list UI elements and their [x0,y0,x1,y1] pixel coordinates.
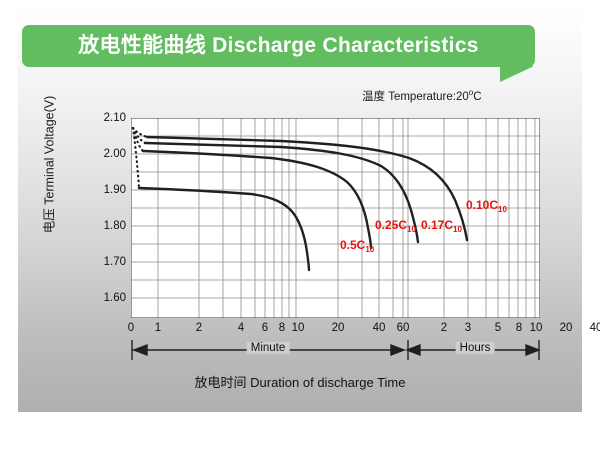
curve-annotation-0-5c-sub: 10 [365,245,374,254]
x-tick-label: 40 [373,322,386,334]
x-tick-label: 20 [560,322,573,334]
curve-annotation-0-25c: 0.25C10 [375,218,416,232]
temperature-note-text: 温度 Temperature:20 [362,91,469,103]
x-tick-label: 4 [238,322,244,334]
x-tick-label: 1 [155,322,161,334]
x-tick-label: 40 [590,322,600,334]
x-tick-label: 60 [397,322,410,334]
curve-annotation-0-5c: 0.5C10 [340,238,374,252]
curve-annotation-0-25c-sub: 10 [407,225,416,234]
temperature-unit: C [473,91,481,103]
curve-annotation-0-10c: 0.10C10 [466,198,507,212]
plot-background [131,118,540,318]
x-tick-label: 0 [128,322,134,334]
chart-plot-area [131,118,540,318]
header-bubble-tail [500,66,534,82]
x-tick-label: 2 [196,322,202,334]
x-tick-label: 3 [465,322,471,334]
y-tick-label: 1.80 [92,220,126,232]
x-tick-label: 2 [441,322,447,334]
curve-annotation-0-10c-sub: 10 [498,205,507,214]
x-tick-label: 10 [292,322,305,334]
y-tick-label: 1.70 [92,256,126,268]
page-title: 放电性能曲线 Discharge Characteristics [22,25,535,67]
y-tick-label: 2.10 [92,112,126,124]
x-axis-caption: 放电时间 Duration of discharge Time [18,372,582,391]
y-tick-label: 1.90 [92,184,126,196]
y-tick-label: 2.00 [92,148,126,160]
x-tick-label: 8 [516,322,522,334]
x-tick-label: 10 [530,322,543,334]
y-axis-title: 电压 Terminal Voltage(V) [39,85,58,245]
range-label-hours: Hours [456,342,495,354]
y-tick-label: 1.60 [92,292,126,304]
curve-annotation-0-5c-text: 0.5C [340,238,365,252]
x-tick-label: 6 [262,322,268,334]
x-tick-label: 20 [332,322,345,334]
curve-annotation-0-10c-text: 0.10C [466,198,498,212]
curve-annotation-0-17c-text: 0.17C [421,218,453,232]
range-label-minute: Minute [247,342,290,354]
curve-annotation-0-25c-text: 0.25C [375,218,407,232]
x-tick-label: 5 [495,322,501,334]
x-tick-label: 8 [279,322,285,334]
temperature-note: 温度 Temperature:20oC [362,88,482,104]
curve-annotation-0-17c: 0.17C10 [421,218,462,232]
curve-annotation-0-17c-sub: 10 [453,225,462,234]
